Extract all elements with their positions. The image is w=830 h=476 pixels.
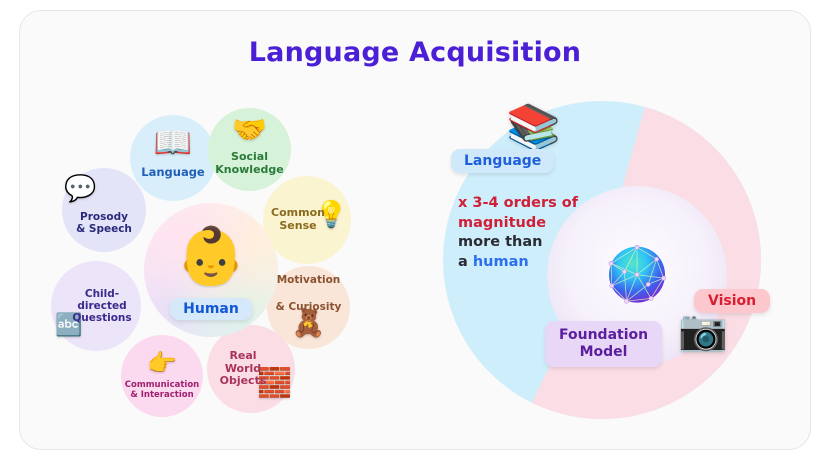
- bubble-label-line2: directed: [77, 300, 126, 312]
- foundation-model-line1: Foundation: [559, 327, 648, 344]
- foundation-model-diagram: 📚 Language x 3-4 orders of magnitude mor…: [418, 89, 798, 434]
- bubble-label: Language: [141, 166, 205, 179]
- bubble-human-center[interactable]: 👶 Human: [144, 203, 278, 337]
- network-sphere-icon: [602, 240, 672, 310]
- note-line-4-prefix: a: [458, 254, 473, 270]
- scale-annotation: x 3-4 orders of magnitude more than a hu…: [458, 194, 578, 273]
- foundation-model-label-pill: Foundation Model: [545, 321, 662, 367]
- camera-icon: 📷: [678, 311, 728, 351]
- foundation-model-line2: Model: [580, 344, 628, 361]
- speech-bubbles-icon: 💬: [64, 176, 96, 202]
- open-book-icon: 📖: [154, 128, 193, 159]
- slide-card: Language Acquisition 📖 Language 🤝 Social…: [19, 10, 811, 450]
- bubble-common-sense[interactable]: 💡 Common Sense: [263, 176, 351, 264]
- note-line-1: x 3-4 orders of: [458, 194, 578, 214]
- bubble-label-line2: Knowledge: [215, 164, 284, 177]
- note-line-2: magnitude: [458, 214, 578, 234]
- bubble-label-line1: Social: [231, 151, 268, 164]
- bubble-label-line1: Prosody: [80, 211, 128, 223]
- bubble-label-line2: & Curiosity: [276, 301, 342, 313]
- human-label-pill: Human: [170, 298, 252, 320]
- language-label-pill: Language: [451, 149, 554, 173]
- bubble-prosody-speech[interactable]: 💬 Prosody & Speech: [62, 168, 146, 252]
- baby-with-blocks-icon: 👶: [176, 229, 246, 285]
- bubble-label-line2: & Speech: [76, 223, 132, 235]
- bubble-label-line1: Real: [229, 350, 256, 363]
- bubble-social-knowledge[interactable]: 🤝 Social Knowledge: [208, 108, 291, 191]
- vision-label-pill: Vision: [694, 289, 770, 313]
- bubble-label-line2: & Interaction: [130, 391, 193, 401]
- bubble-label-line3: Objects: [220, 375, 267, 388]
- network-hand-icon: 👉: [147, 351, 177, 375]
- note-line-4: a human: [458, 253, 578, 273]
- note-line-3: more than: [458, 233, 578, 253]
- teddy-bear-icon: 🧸: [292, 310, 326, 337]
- bubble-communication-interaction[interactable]: 👉 Communication & Interaction: [121, 335, 203, 417]
- handshake-icon: 🤝: [232, 116, 267, 144]
- stack-of-books-icon: 📚: [506, 106, 561, 150]
- bubble-label-line1: Motivation: [277, 274, 341, 286]
- bubble-label-line2: Sense: [279, 220, 316, 233]
- bubble-label-line1: Child-: [85, 288, 119, 300]
- bubble-label-line3: Questions: [72, 312, 131, 324]
- human-capabilities-cluster: 📖 Language 🤝 Social Knowledge 💡 Common S…: [41, 103, 401, 433]
- bubble-language[interactable]: 📖 Language: [130, 115, 216, 201]
- page-title: Language Acquisition: [20, 37, 810, 68]
- bubble-real-world-objects[interactable]: 🧱 Real World Objects: [207, 325, 295, 413]
- bubble-child-directed-questions[interactable]: 🔤 Child- directed Questions: [51, 261, 141, 351]
- note-line-4-highlight: human: [473, 254, 529, 270]
